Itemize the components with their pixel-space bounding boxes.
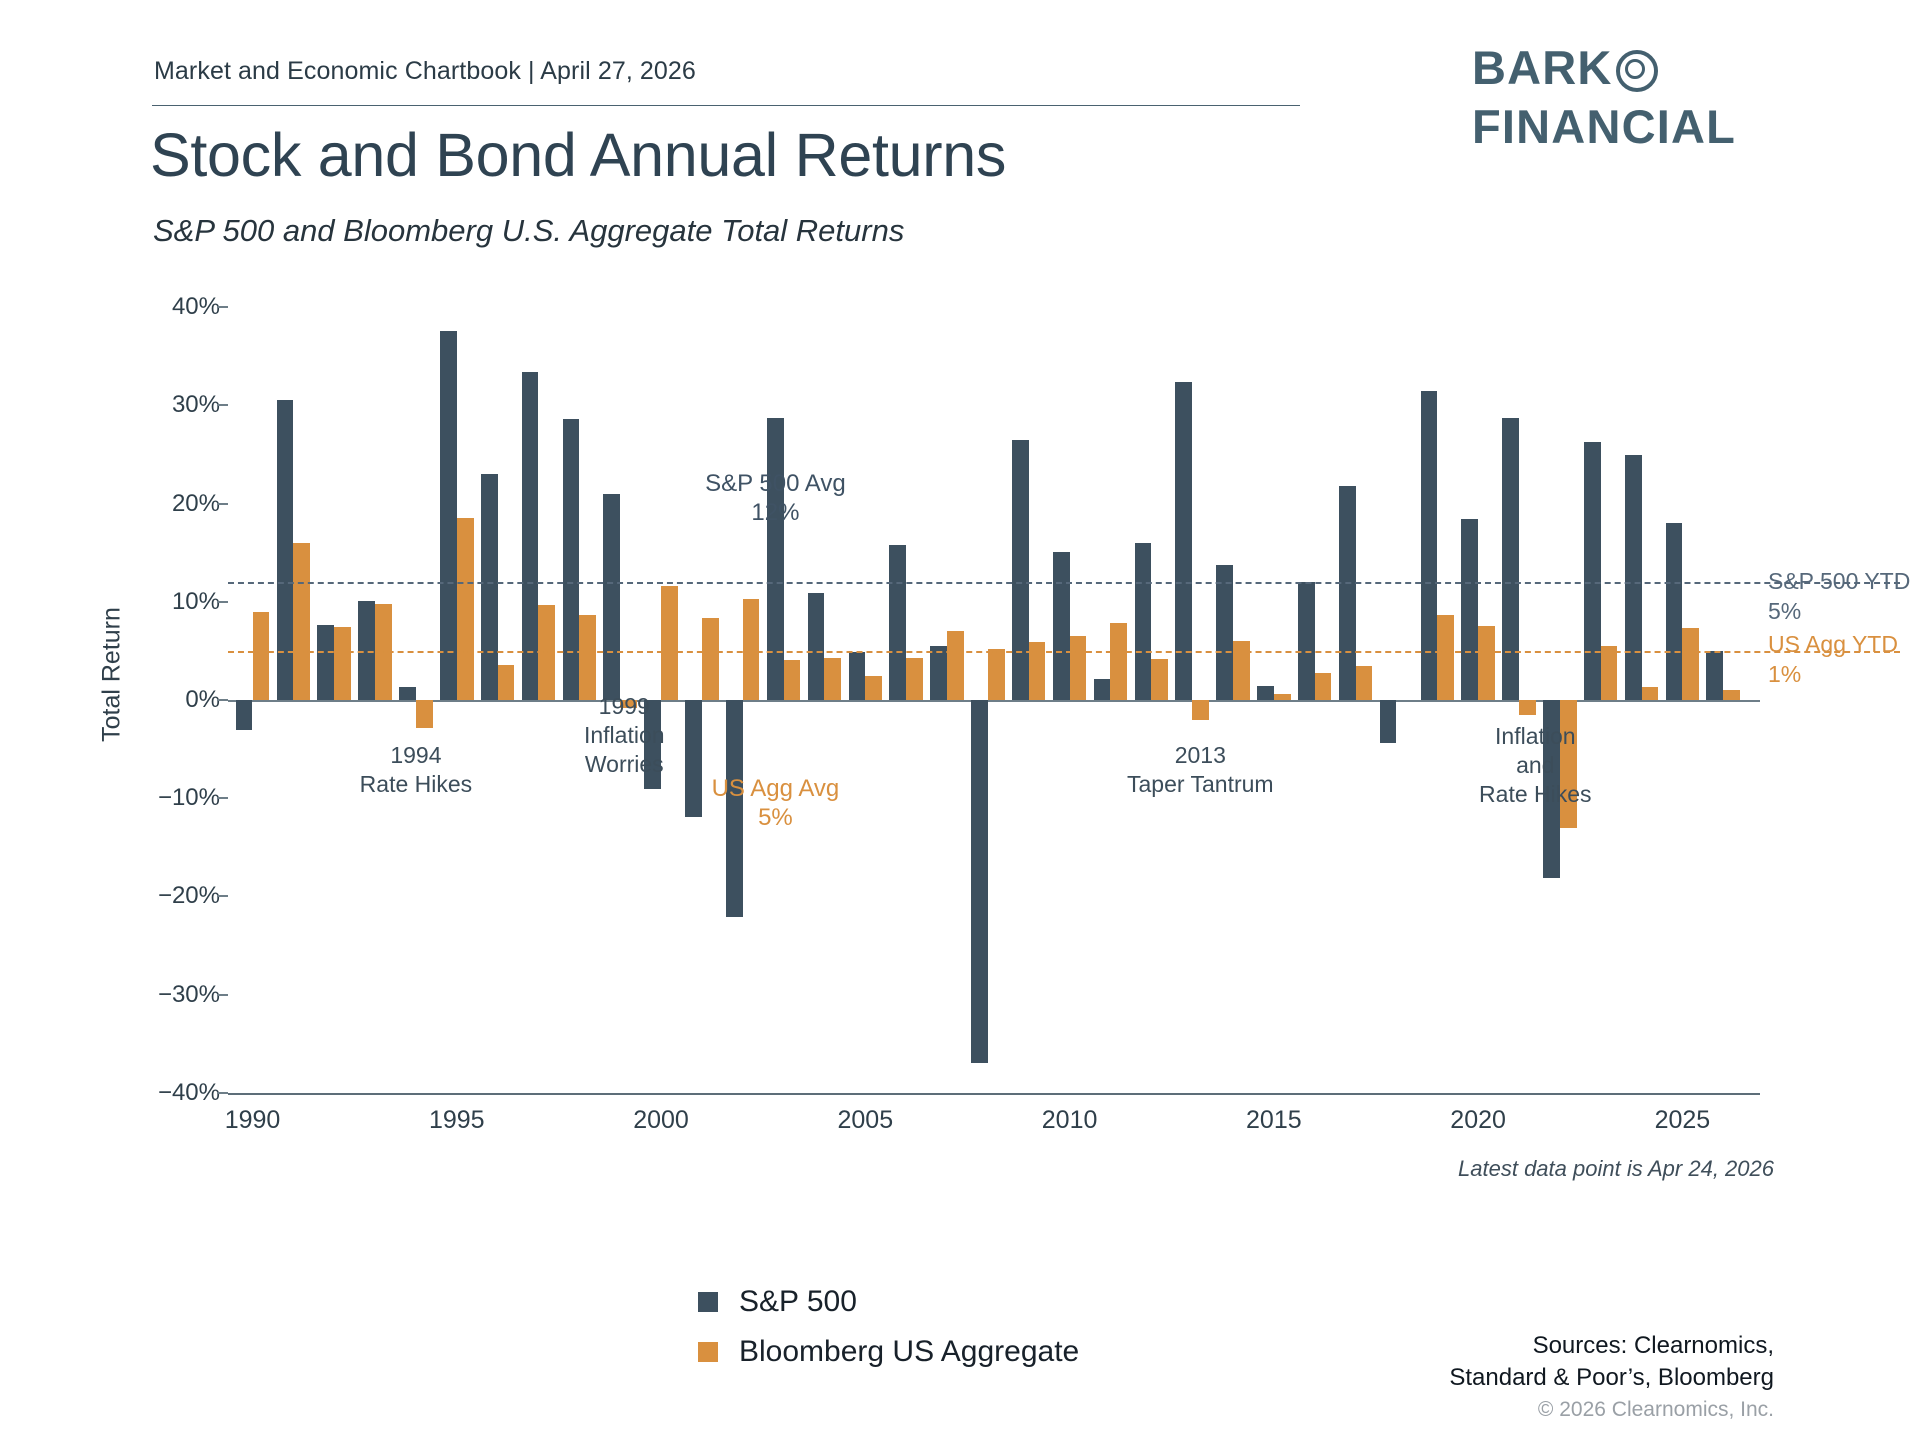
event-annotation-2013: 2013 Taper Tantrum [1085, 741, 1315, 799]
x-axis-tick-label: 2010 [1042, 1106, 1098, 1135]
bar-usagg-2019 [1437, 615, 1454, 700]
sources-note: Sources: Clearnomics, Standard & Poor’s,… [0, 1330, 1774, 1394]
bar-sp500-2003 [767, 418, 784, 700]
y-axis-tick-label: 10% [172, 588, 220, 616]
y-axis-tick-mark [217, 994, 228, 996]
bar-sp500-1999 [603, 494, 620, 700]
bar-usagg-2002 [743, 599, 760, 700]
bar-usagg-2012 [1151, 659, 1168, 700]
bar-sp500-2026 [1706, 651, 1723, 700]
ring-o-icon [1616, 50, 1658, 92]
bar-sp500-2016 [1298, 582, 1315, 700]
y-axis-tick-label: −20% [158, 882, 220, 910]
bar-usagg-2021 [1519, 700, 1536, 715]
bar-usagg-2023 [1601, 646, 1618, 700]
chartbook-kicker: Market and Economic Chartbook | April 27… [154, 57, 696, 86]
bar-usagg-2007 [947, 631, 964, 700]
x-axis-tick-label: 2015 [1246, 1106, 1302, 1135]
bar-sp500-2009 [1012, 440, 1029, 700]
header-divider [152, 105, 1300, 106]
legend-swatch-icon [698, 1292, 718, 1312]
bar-usagg-2017 [1356, 666, 1373, 700]
bar-usagg-2008 [988, 649, 1005, 700]
bar-usagg-2015 [1274, 694, 1291, 700]
x-axis-tick-label: 2000 [633, 1106, 689, 1135]
bar-sp500-2006 [889, 545, 906, 700]
y-axis-tick-label: −40% [158, 1079, 220, 1107]
event-annotation-1994: 1994 Rate Hikes [316, 741, 516, 799]
bar-sp500-1991 [277, 400, 294, 700]
bar-sp500-2008 [971, 700, 988, 1063]
logo-line-2: FINANCIAL [1472, 103, 1736, 150]
bar-usagg-2003 [784, 660, 801, 700]
page-subtitle: S&P 500 and Bloomberg U.S. Aggregate Tot… [153, 213, 904, 249]
annotation-usagg-average: US Agg Avg 5% [665, 774, 885, 832]
bar-sp500-1994 [399, 687, 416, 700]
y-axis-tick-mark [217, 601, 228, 603]
bar-usagg-2016 [1315, 673, 1332, 700]
event-annotation-1999: 1999 Inflation Worries [549, 692, 699, 779]
bar-sp500-1990 [236, 700, 253, 730]
bar-sp500-2004 [808, 593, 825, 700]
bar-usagg-1990 [253, 612, 270, 700]
event-annotation-2021: Inflation and Rate Hikes [1450, 722, 1620, 809]
logo-line-1: BARK [1472, 44, 1736, 91]
bar-sp500-1998 [563, 419, 580, 700]
bar-usagg-2020 [1478, 626, 1495, 700]
bar-sp500-2011 [1094, 679, 1111, 700]
bar-usagg-2026 [1723, 690, 1740, 700]
y-axis-tick-label: 0% [185, 686, 220, 714]
y-axis-tick-label: −30% [158, 981, 220, 1009]
bar-sp500-2007 [930, 646, 947, 700]
annotation-sp500-ytd: S&P 500 YTD 5% [1768, 566, 1920, 626]
copyright-note: © 2026 Clearnomics, Inc. [0, 1398, 1774, 1422]
y-axis-tick-label: 30% [172, 391, 220, 419]
y-axis-tick-label: 20% [172, 490, 220, 518]
sp500-average-line [228, 582, 1900, 584]
bar-usagg-2000 [661, 586, 678, 700]
y-axis-label: Total Return [98, 607, 127, 742]
x-axis-line [228, 1093, 1760, 1095]
y-axis-tick-mark [217, 306, 228, 308]
bar-sp500-2020 [1461, 519, 1478, 700]
bar-usagg-2013 [1192, 700, 1209, 720]
bar-sp500-1992 [317, 625, 334, 700]
bar-usagg-2005 [865, 676, 882, 700]
bar-usagg-1992 [334, 627, 351, 700]
y-axis-tick-mark [217, 404, 228, 406]
y-axis-tick-mark [217, 1092, 228, 1094]
annotation-sp500-average: S&P 500 Avg 12% [665, 469, 885, 527]
bar-usagg-2006 [906, 658, 923, 700]
page-title: Stock and Bond Annual Returns [150, 120, 1006, 190]
bar-usagg-2025 [1682, 628, 1699, 700]
bar-sp500-2015 [1257, 686, 1274, 700]
bar-sp500-2017 [1339, 486, 1356, 700]
y-axis-tick-label: 40% [172, 293, 220, 321]
bar-usagg-2024 [1642, 687, 1659, 700]
bar-sp500-2021 [1502, 418, 1519, 700]
legend-label: S&P 500 [739, 1285, 857, 1319]
usagg-average-line [228, 651, 1900, 653]
bar-usagg-1998 [579, 615, 596, 700]
legend-item-sp500[interactable]: S&P 500 [698, 1285, 1079, 1319]
bar-usagg-2011 [1110, 623, 1127, 700]
bar-sp500-2019 [1421, 391, 1438, 700]
bar-sp500-1995 [440, 331, 457, 700]
bar-usagg-1994 [416, 700, 433, 728]
bar-sp500-2014 [1216, 565, 1233, 700]
bar-sp500-2023 [1584, 442, 1601, 700]
bar-sp500-2010 [1053, 552, 1070, 700]
y-axis-tick-mark [217, 503, 228, 505]
x-axis-tick-label: 1990 [225, 1106, 281, 1135]
bar-sp500-2024 [1625, 455, 1642, 701]
y-axis-tick-mark [217, 895, 228, 897]
x-axis-tick-label: 2025 [1655, 1106, 1711, 1135]
barko-financial-logo: BARK FINANCIAL [1472, 44, 1736, 150]
x-axis-tick-label: 1995 [429, 1106, 485, 1135]
logo-word-bark: BARK [1472, 44, 1613, 91]
bar-sp500-2005 [849, 652, 866, 700]
y-axis-tick-label: −10% [158, 784, 220, 812]
latest-data-point-note: Latest data point is Apr 24, 2026 [0, 1156, 1774, 1182]
bar-sp500-1996 [481, 474, 498, 700]
annotation-usagg-ytd: US Agg YTD 1% [1768, 629, 1920, 689]
bar-usagg-1996 [498, 665, 515, 700]
bar-usagg-2010 [1070, 636, 1087, 700]
bar-sp500-2018 [1380, 700, 1397, 743]
bar-usagg-2004 [824, 658, 841, 700]
y-axis-tick-mark [217, 699, 228, 701]
bar-sp500-2012 [1135, 543, 1152, 700]
bar-sp500-2025 [1666, 523, 1683, 700]
bar-usagg-1991 [293, 543, 310, 700]
chart-plot-area: 40%30%20%10%0%−10%−20%−30%−40% 199019952… [228, 320, 1760, 1100]
x-axis-tick-label: 2020 [1450, 1106, 1506, 1135]
x-axis-tick-label: 2005 [837, 1106, 893, 1135]
y-axis-tick-mark [217, 797, 228, 799]
bar-usagg-1995 [457, 518, 474, 700]
bar-usagg-2001 [702, 618, 719, 700]
